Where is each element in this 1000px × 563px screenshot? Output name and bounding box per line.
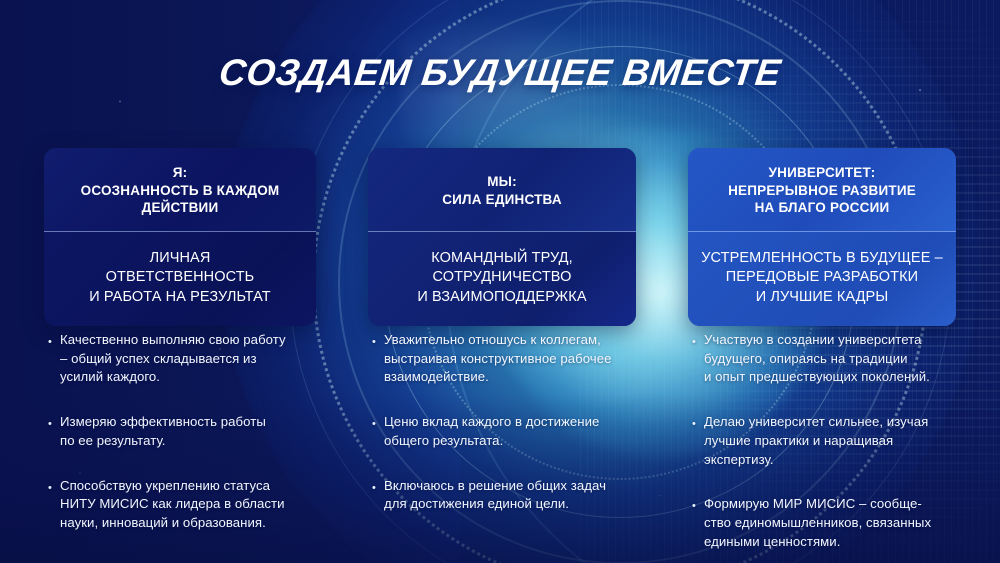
list-item-line: Уважительно отношусь к коллегам, xyxy=(384,331,662,350)
list-item-line: – общий успех складывается из xyxy=(60,350,338,369)
value-card-university-header-line-2: НЕПРЕРЫВНОЕ РАЗВИТИЕ xyxy=(728,182,916,200)
bullet-column-university: • Участвую в создании университета будущ… xyxy=(692,331,992,552)
bullet-dot-icon: • xyxy=(372,483,384,494)
list-item-line: и опыт предшествующих поколений. xyxy=(704,368,992,387)
list-item-line: экспертизу. xyxy=(704,451,992,470)
list-item: • Формирую МИР МИСИС – сообще- ство един… xyxy=(692,495,992,551)
list-item-text: Участвую в создании университета будущег… xyxy=(704,331,992,387)
list-item-line: НИТУ МИСИС как лидера в области xyxy=(60,495,338,514)
value-card-we-body-line-3: И ВЗАИМОПОДДЕРЖКА xyxy=(417,288,586,307)
value-card-me-header-line-3: ДЕЙСТВИИ xyxy=(81,199,280,217)
list-item: • Участвую в создании университета будущ… xyxy=(692,331,992,387)
list-item-line: Участвую в создании университета xyxy=(704,331,992,350)
list-item: • Включаюсь в решение общих задач для до… xyxy=(372,477,662,514)
bullet-dot-icon: • xyxy=(692,501,704,512)
list-item-line: ство единомышленников, связанных xyxy=(704,514,992,533)
list-item-line: Делаю университет сильнее, изучая xyxy=(704,413,992,432)
list-item-line: выстраивая конструктивное рабочее xyxy=(384,350,662,369)
value-card-university-header: УНИВЕРСИТЕТ: НЕПРЕРЫВНОЕ РАЗВИТИЕ НА БЛА… xyxy=(688,148,956,232)
value-card-me-header-line-2: ОСОЗНАННОСТЬ В КАЖДОМ xyxy=(81,182,280,200)
value-card-me-body: ЛИЧНАЯ ОТВЕТСТВЕННОСТЬ И РАБОТА НА РЕЗУЛ… xyxy=(44,232,316,326)
value-card-university-body-line-3: И ЛУЧШИЕ КАДРЫ xyxy=(701,288,943,307)
list-item-text: Измеряю эффективность работы по ее резул… xyxy=(60,413,338,450)
value-card-me-body-line-3: И РАБОТА НА РЕЗУЛЬТАТ xyxy=(89,288,271,307)
list-item-line: будущего, опираясь на традиции xyxy=(704,350,992,369)
list-item-line: взаимодействие. xyxy=(384,368,662,387)
bullet-dot-icon: • xyxy=(692,419,704,430)
list-item-line: едиными ценностями. xyxy=(704,533,992,552)
slide-root: СОЗДАЕМ БУДУЩЕЕ ВМЕСТЕ Я: ОСОЗНАННОСТЬ В… xyxy=(0,0,1000,563)
value-card-me-body-line-1: ЛИЧНАЯ xyxy=(89,249,271,268)
bullet-dot-icon: • xyxy=(48,483,60,494)
value-card-university-header-line-1: УНИВЕРСИТЕТ: xyxy=(728,164,916,182)
bullet-dot-icon: • xyxy=(692,337,704,348)
list-item-text: Включаюсь в решение общих задач для дост… xyxy=(384,477,662,514)
bullet-column-me: • Качественно выполняю свою работу – общ… xyxy=(48,331,338,533)
value-card-we-body-line-1: КОМАНДНЫЙ ТРУД, xyxy=(417,249,586,268)
list-item-line: общего результата. xyxy=(384,432,662,451)
value-card-university-body-line-2: ПЕРЕДОВЫЕ РАЗРАБОТКИ xyxy=(701,268,943,287)
list-item-line: Качественно выполняю свою работу xyxy=(60,331,338,350)
value-card-me-header: Я: ОСОЗНАННОСТЬ В КАЖДОМ ДЕЙСТВИИ xyxy=(44,148,316,232)
list-item-line: Ценю вклад каждого в достижение xyxy=(384,413,662,432)
list-item-text: Качественно выполняю свою работу – общий… xyxy=(60,331,338,387)
bullet-dot-icon: • xyxy=(48,419,60,430)
value-card-me-header-line-1: Я: xyxy=(81,164,280,182)
list-item-text: Способствую укреплению статуса НИТУ МИСИ… xyxy=(60,477,338,533)
list-item-line: Формирую МИР МИСИС – сообще- xyxy=(704,495,992,514)
list-item-text: Уважительно отношусь к коллегам, выстраи… xyxy=(384,331,662,387)
list-item-text: Ценю вклад каждого в достижение общего р… xyxy=(384,413,662,450)
list-item-line: Способствую укреплению статуса xyxy=(60,477,338,496)
list-item-line: Включаюсь в решение общих задач xyxy=(384,477,662,496)
value-card-we-body: КОМАНДНЫЙ ТРУД, СОТРУДНИЧЕСТВО И ВЗАИМОП… xyxy=(368,232,636,326)
value-card-we-header-line-1: МЫ: xyxy=(442,173,562,191)
value-card-university: УНИВЕРСИТЕТ: НЕПРЕРЫВНОЕ РАЗВИТИЕ НА БЛА… xyxy=(688,148,956,326)
value-card-me-body-line-2: ОТВЕТСТВЕННОСТЬ xyxy=(89,268,271,287)
list-item-line: по ее результату. xyxy=(60,432,338,451)
bullet-dot-icon: • xyxy=(48,337,60,348)
value-card-university-header-line-3: НА БЛАГО РОССИИ xyxy=(728,199,916,217)
list-item: • Делаю университет сильнее, изучая лучш… xyxy=(692,413,992,469)
list-item-line: для достижения единой цели. xyxy=(384,495,662,514)
list-item-text: Формирую МИР МИСИС – сообще- ство едином… xyxy=(704,495,992,551)
value-card-we-header: МЫ: СИЛА ЕДИНСТВА xyxy=(368,148,636,232)
value-card-we: МЫ: СИЛА ЕДИНСТВА КОМАНДНЫЙ ТРУД, СОТРУД… xyxy=(368,148,636,326)
value-card-we-header-line-2: СИЛА ЕДИНСТВА xyxy=(442,191,562,209)
bullet-dot-icon: • xyxy=(372,419,384,430)
value-card-me: Я: ОСОЗНАННОСТЬ В КАЖДОМ ДЕЙСТВИИ ЛИЧНАЯ… xyxy=(44,148,316,326)
bullet-column-we: • Уважительно отношусь к коллегам, выстр… xyxy=(372,331,662,514)
list-item: • Ценю вклад каждого в достижение общего… xyxy=(372,413,662,450)
value-card-we-body-line-2: СОТРУДНИЧЕСТВО xyxy=(417,268,586,287)
list-item: • Измеряю эффективность работы по ее рез… xyxy=(48,413,338,450)
list-item: • Качественно выполняю свою работу – общ… xyxy=(48,331,338,387)
list-item-line: Измеряю эффективность работы xyxy=(60,413,338,432)
list-item-line: лучшие практики и наращивая xyxy=(704,432,992,451)
slide-title: СОЗДАЕМ БУДУЩЕЕ ВМЕСТЕ xyxy=(0,52,1000,94)
list-item: • Способствую укреплению статуса НИТУ МИ… xyxy=(48,477,338,533)
list-item-text: Делаю университет сильнее, изучая лучшие… xyxy=(704,413,992,469)
list-item-line: науки, инноваций и образования. xyxy=(60,514,338,533)
value-card-university-body-line-1: УСТРЕМЛЕННОСТЬ В БУДУЩЕЕ – xyxy=(701,249,943,268)
list-item: • Уважительно отношусь к коллегам, выстр… xyxy=(372,331,662,387)
value-card-university-body: УСТРЕМЛЕННОСТЬ В БУДУЩЕЕ – ПЕРЕДОВЫЕ РАЗ… xyxy=(688,232,956,326)
list-item-line: усилий каждого. xyxy=(60,368,338,387)
bullet-dot-icon: • xyxy=(372,337,384,348)
